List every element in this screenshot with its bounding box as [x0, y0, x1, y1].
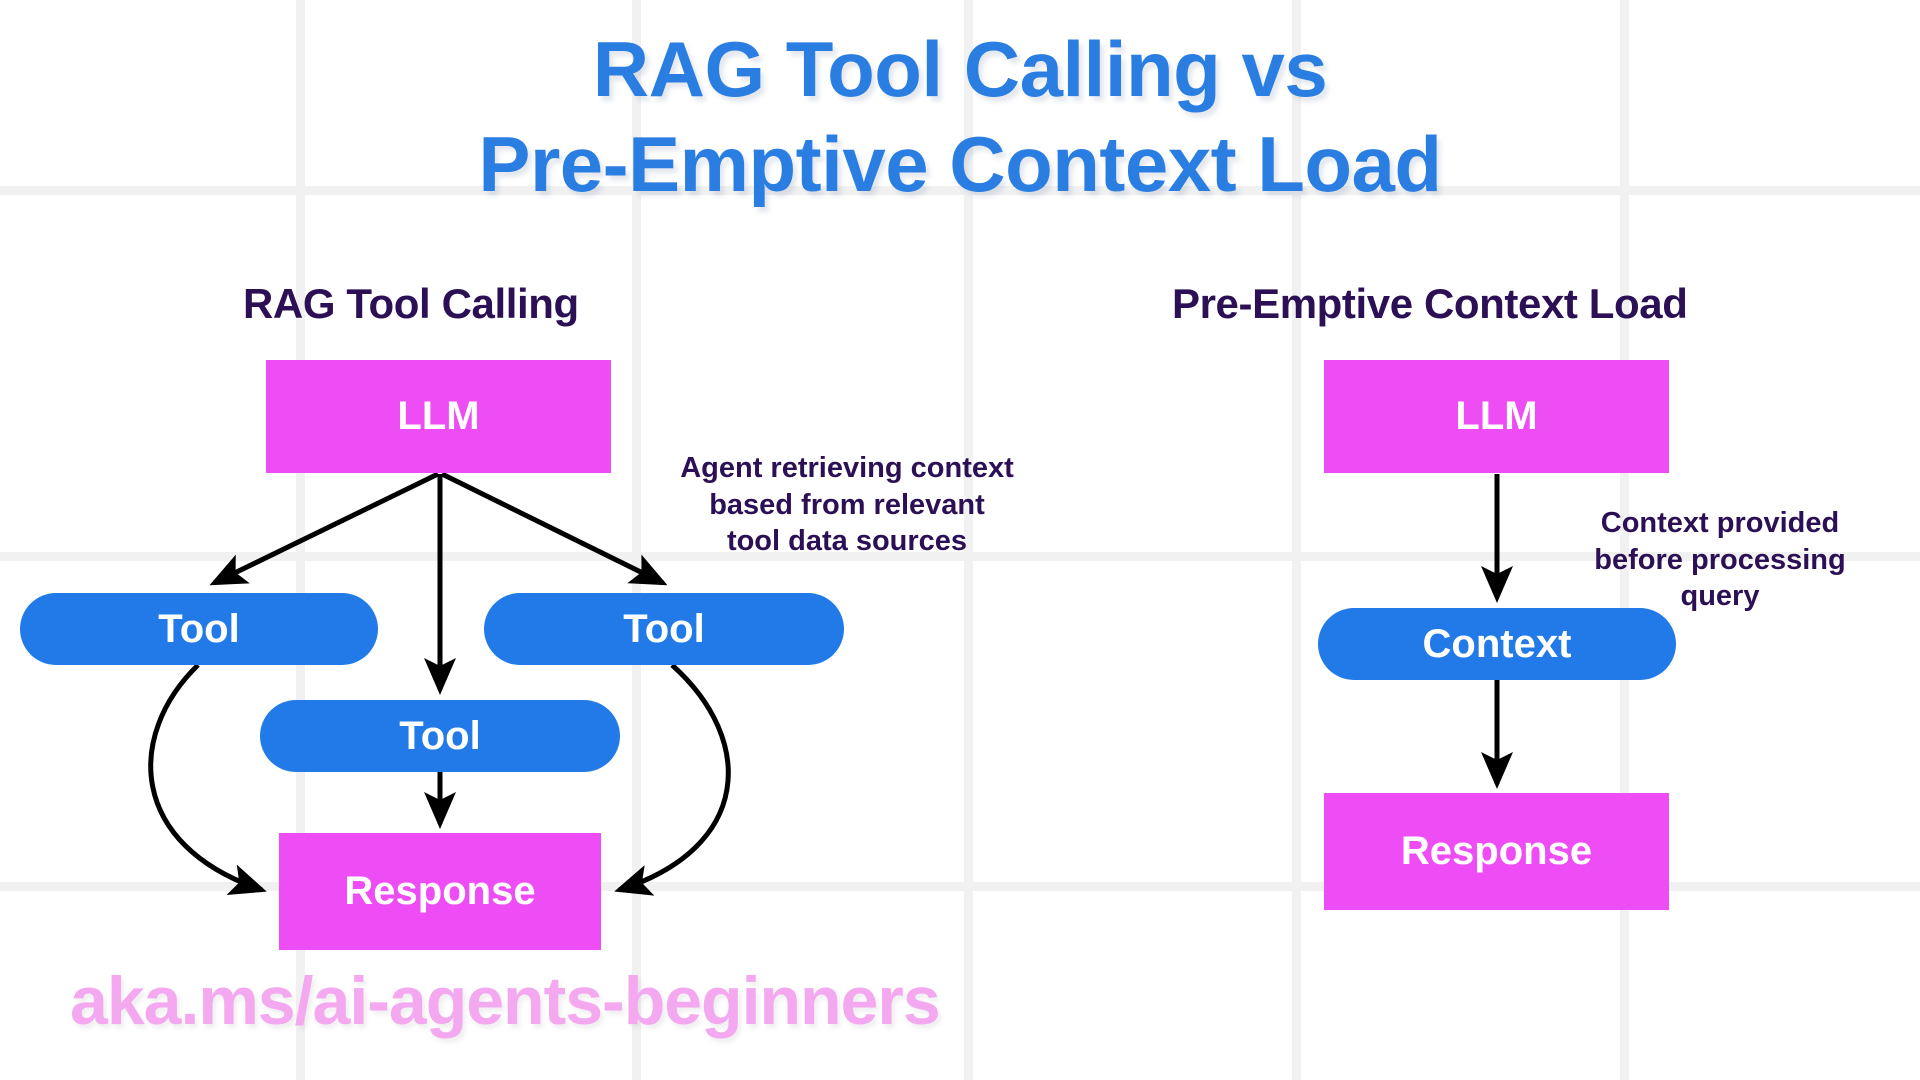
- node-context[interactable]: Context: [1318, 608, 1676, 680]
- annotation-right-line-1: Context provided: [1560, 505, 1880, 542]
- title-line-2: Pre-Emptive Context Load: [0, 117, 1920, 212]
- annotation-left-line-1: Agent retrieving context: [632, 450, 1062, 487]
- node-llm-left[interactable]: LLM: [266, 360, 611, 473]
- page-title: RAG Tool Calling vs Pre-Emptive Context …: [0, 22, 1920, 212]
- arrow-llm-to-tool-left: [214, 474, 438, 583]
- node-tool-left[interactable]: Tool: [20, 593, 378, 665]
- arrow-llm-to-tool-right: [442, 474, 663, 583]
- footer-url[interactable]: aka.ms/ai-agents-beginners: [70, 962, 940, 1040]
- annotation-right: Context provided before processing query: [1560, 505, 1880, 615]
- title-line-1: RAG Tool Calling vs: [593, 25, 1327, 113]
- annotation-left: Agent retrieving context based from rele…: [632, 450, 1062, 560]
- node-response-left[interactable]: Response: [279, 833, 601, 950]
- arrow-tool-left-to-response: [151, 665, 262, 890]
- panel-heading-pre-emptive-context-load: Pre-Emptive Context Load: [1172, 280, 1687, 328]
- annotation-left-line-2: based from relevant: [632, 487, 1062, 524]
- diagram-canvas: RAG Tool Calling vs Pre-Emptive Context …: [0, 0, 1920, 1080]
- node-response-right[interactable]: Response: [1324, 793, 1669, 910]
- arrow-tool-right-to-response: [619, 665, 728, 890]
- node-tool-right[interactable]: Tool: [484, 593, 844, 665]
- annotation-right-line-2: before processing: [1560, 542, 1880, 579]
- node-tool-center[interactable]: Tool: [260, 700, 620, 772]
- panel-heading-rag-tool-calling: RAG Tool Calling: [243, 280, 579, 328]
- annotation-left-line-3: tool data sources: [632, 523, 1062, 560]
- annotation-right-line-3: query: [1560, 578, 1880, 615]
- node-llm-right[interactable]: LLM: [1324, 360, 1669, 473]
